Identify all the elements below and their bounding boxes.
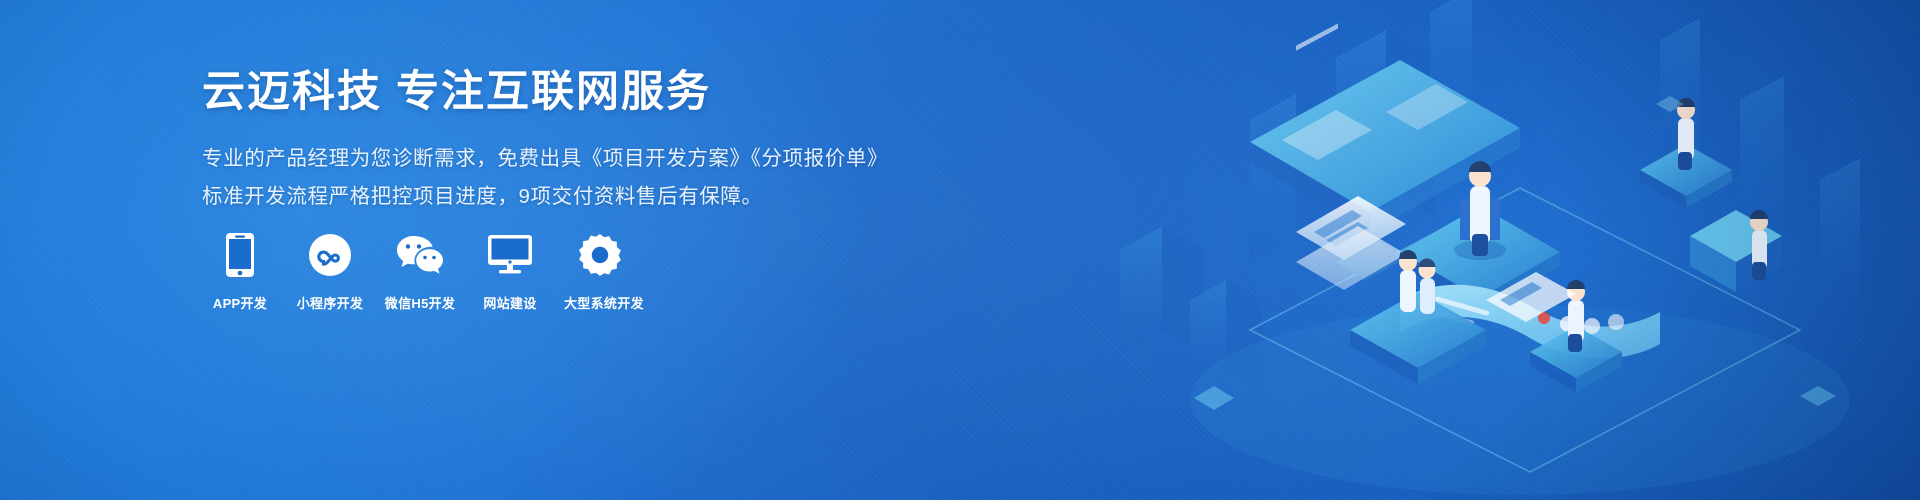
service-label: 网站建设 bbox=[474, 296, 546, 312]
service-label: 小程序开发 bbox=[294, 296, 366, 312]
service-item-website[interactable]: 网站建设 bbox=[474, 232, 546, 312]
subtitle-line-2: 标准开发流程严格把控项目进度，9项交付资料售后有保障。 bbox=[202, 178, 902, 216]
service-list: APP开发 小程序开发 微信 bbox=[204, 232, 636, 312]
mini-program-icon bbox=[294, 232, 366, 278]
hero-illustration bbox=[1100, 0, 1920, 500]
hero-banner: 云迈科技 专注互联网服务 专业的产品经理为您诊断需求，免费出具《项目开发方案》《… bbox=[0, 0, 1920, 500]
service-item-large-system[interactable]: 大型系统开发 bbox=[564, 232, 636, 312]
subtitle-line-1: 专业的产品经理为您诊断需求，免费出具《项目开发方案》《分项报价单》 bbox=[202, 140, 902, 178]
gear-icon bbox=[564, 232, 636, 278]
service-item-app[interactable]: APP开发 bbox=[204, 232, 276, 312]
service-label: APP开发 bbox=[204, 296, 276, 312]
service-label: 微信H5开发 bbox=[384, 296, 456, 312]
service-item-wechat-h5[interactable]: 微信H5开发 bbox=[384, 232, 456, 312]
mobile-phone-icon bbox=[204, 232, 276, 278]
service-item-mini-program[interactable]: 小程序开发 bbox=[294, 232, 366, 312]
page-title: 云迈科技 专注互联网服务 bbox=[202, 66, 902, 118]
service-label: 大型系统开发 bbox=[564, 296, 636, 312]
hero-copy: 云迈科技 专注互联网服务 专业的产品经理为您诊断需求，免费出具《项目开发方案》《… bbox=[202, 66, 902, 216]
monitor-icon bbox=[474, 232, 546, 278]
wechat-icon bbox=[384, 232, 456, 278]
